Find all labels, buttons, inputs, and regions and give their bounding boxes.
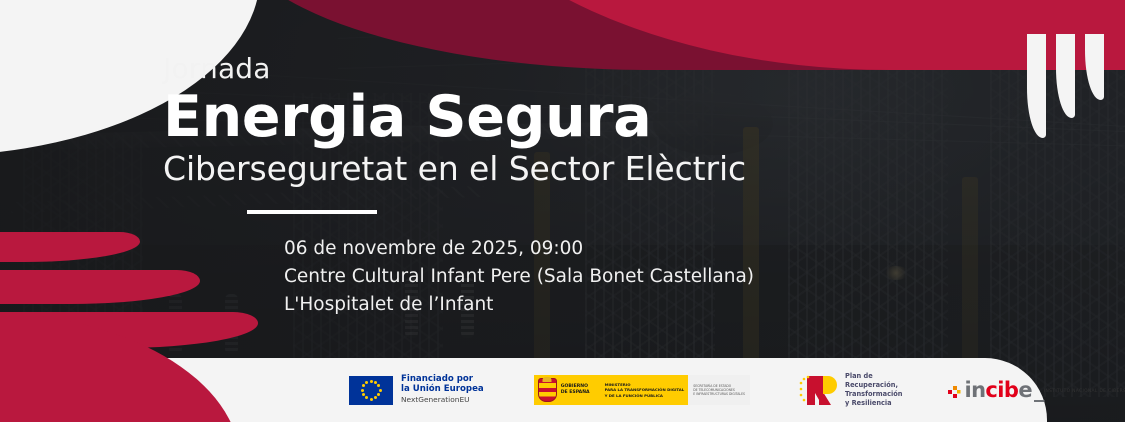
event-details: 06 de novembre de 2025, 09:00 Centre Cul… [284,235,923,319]
incibe-word-underscore: _ [1034,380,1044,401]
hero-text-block: Jornada Energia Segura Ciberseguretat en… [163,54,923,319]
incibe-subtitle: INSTITUTO NACIONAL DE CIBERSEGURIDAD [1044,389,1125,394]
incibe-word-in: in [964,380,985,401]
european-union-funding-logo: Financiado por la Unión Europea NextGene… [349,375,484,405]
eu-line-3: NextGenerationEU [401,396,484,404]
three-blade-mark-icon [1027,34,1107,139]
prtr-r-icon [798,374,838,407]
incibe-dots-icon [948,384,961,397]
eu-flag-icon [349,376,393,405]
event-subtitle: Ciberseguretat en el Sector Elèctric [163,151,923,188]
eu-line-2: la Unión Europea [401,385,484,395]
secretaria-line-3: E INFRAESTRUCTURAS DIGITALES [693,392,745,396]
gobierno-de-espana-logo: GOBIERNO DE ESPAÑA MINISTERIO PARA LA TR… [534,375,750,405]
logo-row: Financiado por la Unión Europea NextGene… [349,372,1125,408]
event-banner: Jornada Energia Segura Ciberseguretat en… [0,0,1125,422]
prtr-line-1: Plan de [845,372,902,381]
spain-coat-of-arms-icon [538,378,557,402]
incibe-word-e: e [1018,380,1032,401]
prtr-line-4: y Resiliencia [845,399,902,408]
prtr-line-2: Recuperación, [845,381,902,390]
event-city: L'Hospitalet de l’Infant [284,291,923,319]
gobierno-line-2: DE ESPAÑA [561,390,590,396]
event-venue: Centre Cultural Infant Pere (Sala Bonet … [284,263,923,291]
event-datetime: 06 de novembre de 2025, 09:00 [284,235,923,263]
ministerio-line-2: PARA LA TRANSFORMACIÓN DIGITAL [605,387,685,392]
incibe-word-cib: cib [985,380,1018,401]
event-title: Energia Segura [163,87,923,149]
divider-rule [247,210,377,214]
event-kicker: Jornada [163,54,923,83]
ministerio-line-3: Y DE LA FUNCIÓN PÚBLICA [605,393,685,398]
incibe-logo: in cib e _ INSTITUTO NACIONAL DE CIBERSE… [948,380,1125,401]
prtr-line-3: Transformación [845,390,902,399]
plan-de-recuperacion-logo: Plan de Recuperación, Transformación y R… [798,372,902,408]
